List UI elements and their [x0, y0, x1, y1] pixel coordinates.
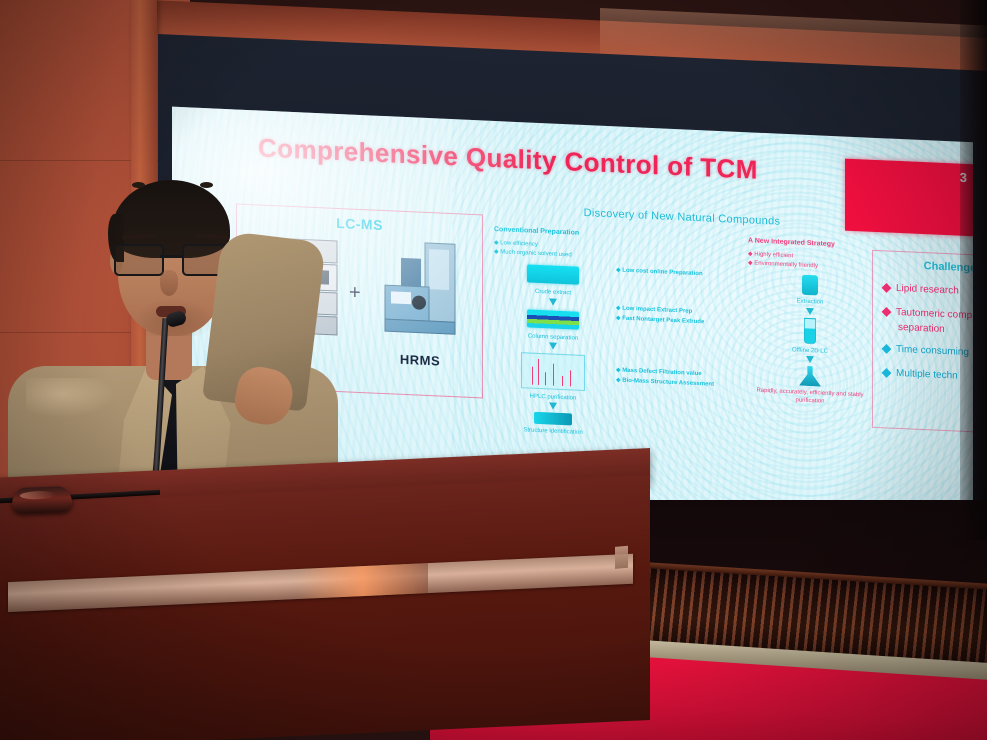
flow-arrow-2: [549, 403, 557, 410]
challenge-label-2: Time consuming: [896, 343, 969, 360]
flow-box-structure: [534, 412, 572, 426]
strategy-caption-2: Rapidly, accurately, efficiently and sta…: [748, 386, 872, 408]
challenges-panel: Challenges Lipid research Tautomeric com…: [872, 250, 973, 435]
diagram-column-methods: ◆ Low cost online Preparation ◆ Low impa…: [616, 230, 748, 391]
glasses-bridge: [160, 255, 182, 258]
eye-left: [132, 182, 145, 188]
diagram-column-conventional: Conventional Preparation ◆ Low efficienc…: [494, 225, 612, 439]
column-vial-icon: [804, 317, 816, 344]
diamond-bullet-icon: [882, 344, 892, 354]
nose: [160, 270, 178, 296]
diamond-bullet-icon: [882, 306, 892, 316]
flow-box-extract: [527, 265, 579, 285]
challenges-title: Challenges: [873, 258, 973, 277]
podium-body: [0, 475, 650, 740]
shoulder-highlight: [26, 378, 116, 418]
lens-left: [114, 244, 164, 276]
chromatogram-card: [521, 352, 585, 391]
flow-box-column: [527, 309, 579, 329]
podium-emblem: [615, 546, 628, 569]
flow-caption-3: Structure identification: [494, 425, 612, 439]
diamond-bullet-icon: [882, 367, 892, 377]
slide-title: Comprehensive Quality Control of TCM: [258, 132, 758, 185]
challenge-label-3: Multiple techn: [896, 366, 958, 382]
eye-right: [200, 182, 213, 188]
extraction-icon: [802, 275, 818, 296]
diamond-bullet-icon: [882, 283, 892, 293]
computer-mouse[interactable]: [12, 486, 73, 514]
strategy-arrow-0: [806, 308, 814, 315]
challenge-label-0: Lipid research: [896, 282, 959, 298]
presentation-photo-scene: Comprehensive Quality Control of TCM 3 L…: [0, 0, 987, 740]
mouse-highlight: [20, 491, 56, 500]
right-edge-shadow: [960, 0, 987, 540]
strategy-arrow-1: [806, 356, 814, 363]
column-middle-bullet-0: ◆ Low cost online Preparation: [616, 266, 748, 282]
hrms-instrument-icon: [379, 239, 461, 339]
hrms-caption: HRMS: [377, 351, 463, 370]
flow-arrow-1: [549, 342, 557, 349]
podium-band-reflection: [298, 563, 428, 599]
flow-arrow-0: [549, 298, 557, 305]
purification-flask-icon: [799, 366, 821, 387]
podium-metal-band: [8, 554, 633, 612]
diagram-column-strategy: A New Integrated Strategy ◆ Highly effic…: [748, 236, 872, 408]
plus-sign: +: [349, 282, 361, 306]
